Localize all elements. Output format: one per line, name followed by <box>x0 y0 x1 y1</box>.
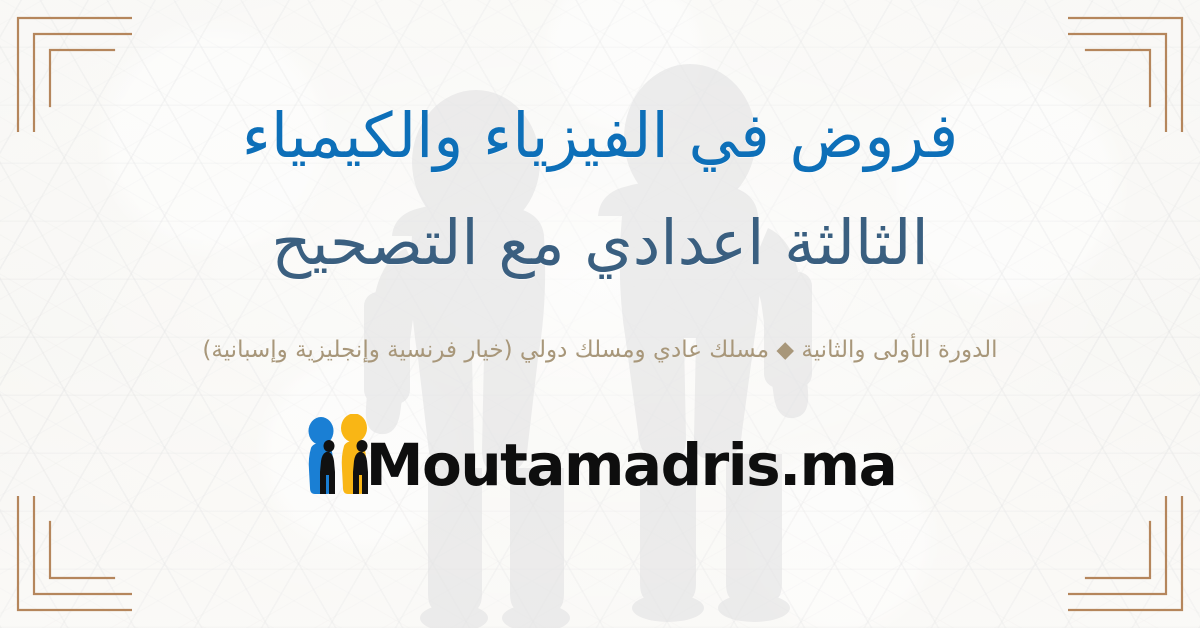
site-logo[interactable]: Moutamadris.ma <box>304 414 896 494</box>
logo-wordmark: Moutamadris.ma <box>366 436 896 494</box>
poster-canvas: فروض في الفيزياء والكيمياء الثالثة اعداد… <box>0 0 1200 628</box>
title-line-primary: فروض في الفيزياء والكيمياء <box>0 104 1200 167</box>
two-students-logo-mark-icon <box>304 414 376 496</box>
poster-content: فروض في الفيزياء والكيمياء الثالثة اعداد… <box>0 0 1200 628</box>
page-title: فروض في الفيزياء والكيمياء الثالثة اعداد… <box>0 104 1200 274</box>
subtitle-text: الدورة الأولى والثانية ◆ مسلك عادي ومسلك… <box>202 336 997 366</box>
title-line-secondary: الثالثة اعدادي مع التصحيح <box>0 211 1200 274</box>
